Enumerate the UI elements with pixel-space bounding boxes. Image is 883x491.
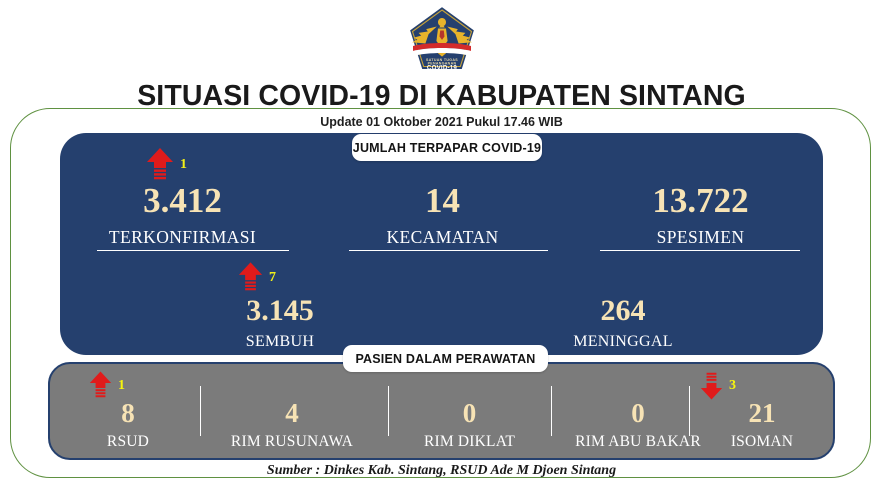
stat-value-rsud: 8 bbox=[58, 400, 198, 427]
stat-terkonfirmasi: 3.412 TERKONFIRMASI bbox=[60, 183, 305, 247]
stat-label-isoman: ISOMAN bbox=[697, 434, 827, 450]
delta-value-rsud: 1 bbox=[118, 379, 125, 393]
stat-label-rim-rusunawa: RIM RUSUNAWA bbox=[207, 434, 377, 450]
banner-pasien-dalam-perawatan: PASIEN DALAM PERAWATAN bbox=[343, 345, 548, 372]
page-title: SITUASI COVID-19 DI KABUPATEN SINTANG bbox=[0, 80, 883, 113]
stat-label-spesimen: SPESIMEN bbox=[578, 229, 823, 247]
underline-spesimen bbox=[600, 250, 800, 251]
stat-value-rim-rusunawa: 4 bbox=[207, 400, 377, 427]
delta-value-sembuh: 7 bbox=[269, 271, 276, 285]
stat-isoman: 21 ISOMAN bbox=[697, 400, 827, 450]
stat-label-terkonfirmasi: TERKONFIRMASI bbox=[60, 229, 305, 247]
delta-sembuh: 7 bbox=[238, 262, 276, 293]
delta-rsud: 1 bbox=[89, 371, 125, 400]
stat-rim-rusunawa: 4 RIM RUSUNAWA bbox=[207, 400, 377, 450]
svg-text:COVID-19: COVID-19 bbox=[426, 64, 456, 71]
infographic-page: SATUAN TUGAS PENANGANAN COVID-19 SITUASI… bbox=[0, 0, 883, 491]
delta-terkonfirmasi: 1 bbox=[146, 148, 187, 182]
stat-rsud: 8 RSUD bbox=[58, 400, 198, 450]
satgas-covid19-logo-icon: SATUAN TUGAS PENANGANAN COVID-19 bbox=[406, 4, 478, 74]
divider-1 bbox=[200, 386, 201, 436]
stat-value-meninggal: 264 bbox=[513, 296, 733, 326]
arrow-down-icon bbox=[700, 371, 723, 400]
stat-label-kecamatan: KECAMATAN bbox=[325, 229, 560, 247]
underline-kecamatan bbox=[349, 250, 548, 251]
delta-value-isoman: 3 bbox=[729, 379, 736, 393]
stat-value-spesimen: 13.722 bbox=[578, 183, 823, 218]
stat-rim-diklat: 0 RIM DIKLAT bbox=[397, 400, 542, 450]
banner-jumlah-terpapar: JUMLAH TERPAPAR COVID-19 bbox=[352, 134, 542, 161]
divider-4 bbox=[689, 386, 690, 436]
stat-kecamatan: 14 KECAMATAN bbox=[325, 183, 560, 247]
stat-meninggal: 264 MENINGGAL bbox=[513, 296, 733, 350]
source-credit: Sumber : Dinkes Kab. Sintang, RSUD Ade M… bbox=[0, 463, 883, 479]
stat-value-isoman: 21 bbox=[697, 400, 827, 427]
stat-label-rsud: RSUD bbox=[58, 434, 198, 450]
divider-2 bbox=[388, 386, 389, 436]
stat-sembuh: 3.145 SEMBUH bbox=[170, 296, 390, 350]
stat-value-sembuh: 3.145 bbox=[170, 296, 390, 326]
stat-spesimen: 13.722 SPESIMEN bbox=[578, 183, 823, 247]
delta-value-terkonfirmasi: 1 bbox=[180, 158, 187, 172]
arrow-up-icon bbox=[146, 148, 174, 182]
stat-value-terkonfirmasi: 3.412 bbox=[60, 183, 305, 218]
arrow-up-icon bbox=[89, 371, 112, 400]
delta-isoman: 3 bbox=[700, 371, 736, 400]
underline-terkonfirmasi bbox=[97, 250, 289, 251]
update-timestamp: Update 01 Oktober 2021 Pukul 17.46 WIB bbox=[0, 115, 883, 129]
stat-label-rim-diklat: RIM DIKLAT bbox=[397, 434, 542, 450]
stat-value-rim-diklat: 0 bbox=[397, 400, 542, 427]
arrow-up-icon bbox=[238, 262, 263, 293]
logo-container: SATUAN TUGAS PENANGANAN COVID-19 bbox=[0, 4, 883, 74]
stat-value-kecamatan: 14 bbox=[325, 183, 560, 218]
